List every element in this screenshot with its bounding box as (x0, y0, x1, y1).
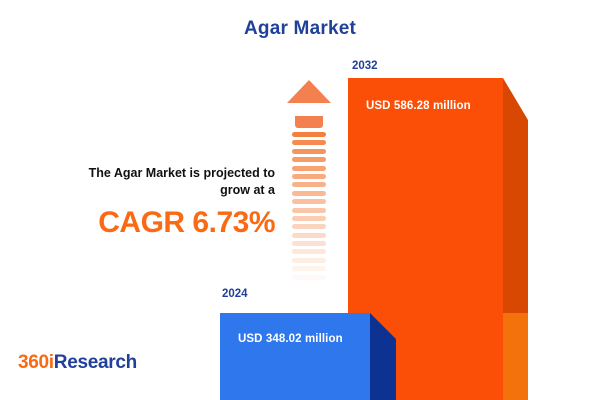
arrow-stripe (292, 149, 326, 154)
arrow-stripe (292, 174, 326, 179)
arrow-stripe (292, 132, 326, 137)
arrow-stripe (292, 157, 326, 162)
arrow-stripe (292, 208, 326, 213)
bar-2024-face: USD 348.02 million (220, 313, 370, 400)
logo-360i-text: 360i (18, 352, 54, 373)
arrow-stripe (292, 258, 326, 263)
arrow-stripe (292, 216, 326, 221)
cagr-lead-line-1: The Agar Market is projected to (89, 166, 275, 180)
arrow-stripe (292, 275, 326, 280)
bar-2032-side-panel (503, 78, 528, 400)
cagr-lead-text: The Agar Market is projected to grow at … (30, 165, 275, 199)
infographic-canvas: Agar Market 2032 USD 586.28 million 2024… (0, 0, 600, 400)
arrow-stripe (292, 283, 326, 288)
brand-logo: 360iResearch (18, 352, 137, 374)
bar-2032-value-label: USD 586.28 million (366, 100, 471, 112)
bar-2024-value-label: USD 348.02 million (238, 333, 343, 345)
arrow-neck (295, 116, 323, 128)
bar-2032-side-lower (503, 313, 528, 400)
bar-label-2032: 2032 (352, 60, 378, 72)
arrow-stripe-stack (292, 132, 326, 294)
arrow-stripe (292, 249, 326, 254)
growth-arrow-icon (286, 78, 332, 294)
logo-research-text: Research (54, 352, 137, 373)
arrow-stripe (292, 233, 326, 238)
arrow-stripe (292, 191, 326, 196)
arrow-stripe (292, 166, 326, 171)
arrow-stripe (292, 182, 326, 187)
arrow-stripe (292, 241, 326, 246)
arrow-stripe (292, 140, 326, 145)
bar-2024: USD 348.02 million (220, 313, 396, 400)
arrow-stripe (292, 266, 326, 271)
cagr-value-text: CAGR 6.73% (30, 206, 275, 240)
cagr-callout: The Agar Market is projected to grow at … (30, 165, 275, 240)
bar-label-2024: 2024 (222, 288, 248, 300)
arrow-stripe (292, 199, 326, 204)
bar-2032-side-upper (503, 78, 528, 313)
cagr-lead-line-2: grow at a (220, 183, 275, 197)
arrow-stripe (292, 224, 326, 229)
bar-2024-side-panel (370, 313, 396, 400)
page-title: Agar Market (0, 18, 600, 40)
